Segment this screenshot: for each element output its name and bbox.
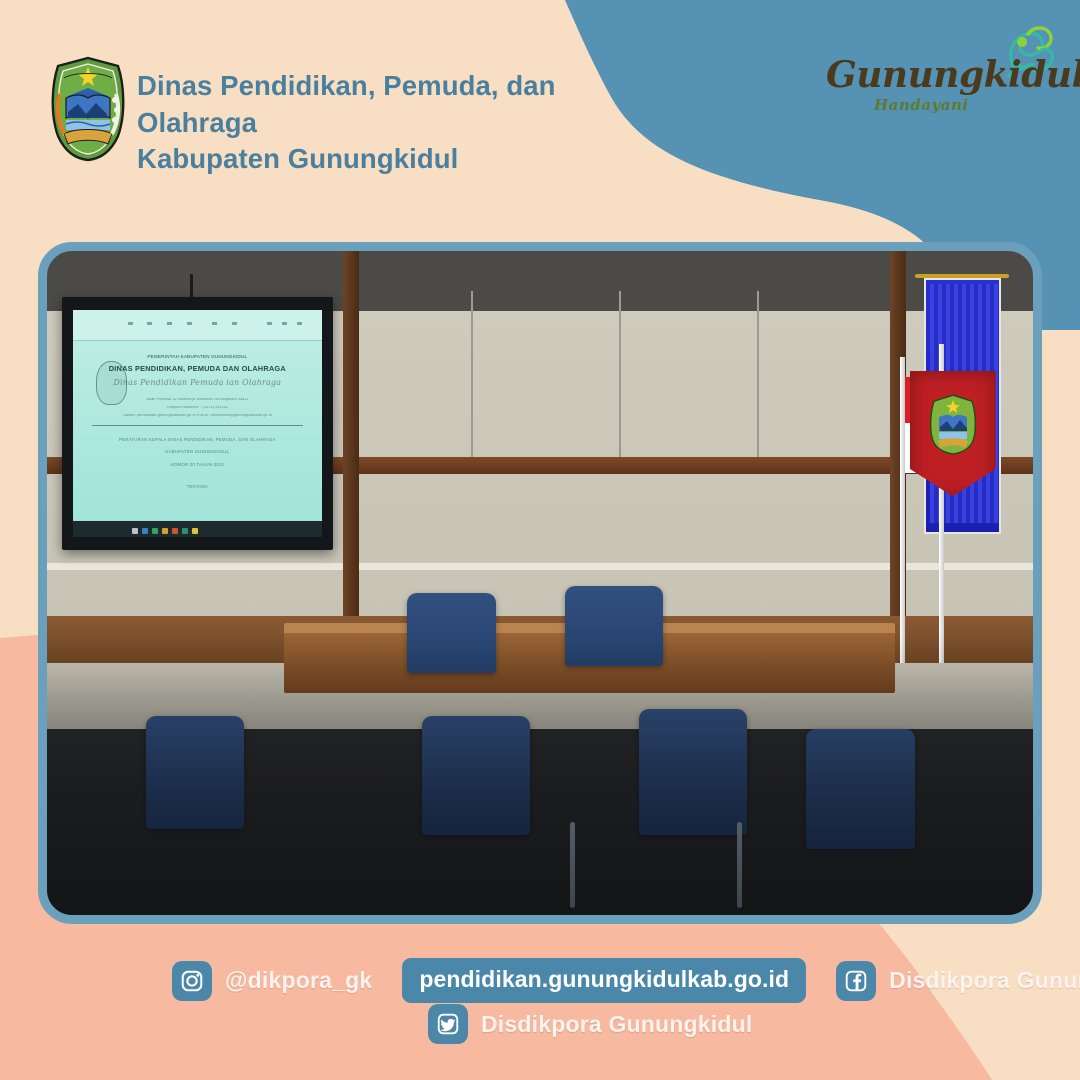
projected-line-7: PERATURAN KEPALA DINAS PENDIDIKAN, PEMUD… [88,438,308,442]
projected-line-1: PEMERINTAH KABUPATEN GUNUNGKIDUL [88,355,308,360]
brand-wordmark: Gunungkidul [826,54,1036,96]
photo-vignette [47,636,1033,915]
social-row-primary: @dikpora_gk pendidikan.gunungkidulkab.go… [172,958,1080,1003]
meeting-photo: PEMERINTAH KABUPATEN GUNUNGKIDUL DINAS P… [47,251,1033,915]
projected-line-6: Laman: pendidikan.gunungkidulkab.go.id P… [88,414,308,418]
social-footer: @dikpora_gk pendidikan.gunungkidulkab.go… [0,940,1080,1080]
projected-line-9: NOMOR 20 TAHUN 2021 [88,463,308,467]
instagram-icon[interactable] [172,961,212,1001]
gunungkidul-regency-crest [46,56,130,162]
wall-pillar [343,251,359,663]
projected-line-10: TENTANG [88,485,308,489]
brand-tagline: Handayani [874,96,969,114]
social-row-twitter: Disdikpora Gunungkidul [428,1004,752,1044]
projected-line-4: Jalan Pemuda 32 Baleharjo Wonosari Gunun… [88,398,308,402]
pennant-crest-icon [927,393,979,455]
projector-mount [190,274,193,301]
twitter-account-name[interactable]: Disdikpora Gunungkidul [481,1011,752,1038]
projected-app-toolbar [73,310,322,341]
projected-divider [92,425,303,426]
photo-frame: PEMERINTAH KABUPATEN GUNUNGKIDUL DINAS P… [38,242,1042,924]
projected-line-8: KABUPATEN GUNUNGKIDUL [88,450,308,454]
poster-canvas: Dinas Pendidikan, Pemuda, dan Olahraga K… [0,0,1080,1080]
twitter-icon[interactable] [428,1004,468,1044]
projected-line-3: Dinas Pendidikan Pemuda lan Olahraga [88,379,308,387]
facebook-icon[interactable] [836,961,876,1001]
wall-panel-divider [757,291,759,464]
projected-line-2: DINAS PENDIDIKAN, PEMUDA DAN OLAHRAGA [88,365,308,372]
poster-header: Dinas Pendidikan, Pemuda, dan Olahraga K… [0,0,660,200]
wall-panel-divider [471,291,473,464]
facebook-page-name[interactable]: Disdikpora Gunungkidul [889,967,1080,994]
org-title-line2: Kabupaten Gunungkidul [137,141,657,178]
website-url-pill[interactable]: pendidikan.gunungkidulkab.go.id [402,958,806,1003]
wall-trim-line [47,563,1033,570]
org-title-line1: Dinas Pendidikan, Pemuda, dan Olahraga [137,70,556,138]
page-title: Dinas Pendidikan, Pemuda, dan Olahraga K… [137,68,657,178]
projected-line-5: Telepon/Faksimile : (0274) 391142 [88,406,308,410]
projected-document: PEMERINTAH KABUPATEN GUNUNGKIDUL DINAS P… [88,349,308,508]
gunungkidul-brand-mark: Gunungkidul Handayani [826,34,1056,144]
projector-screen-shell: PEMERINTAH KABUPATEN GUNUNGKIDUL DINAS P… [62,297,333,549]
projector-screen: PEMERINTAH KABUPATEN GUNUNGKIDUL DINAS P… [73,310,322,537]
wall-panel-divider [619,291,621,464]
projected-taskbar [73,521,322,537]
instagram-handle[interactable]: @dikpora_gk [225,967,372,994]
